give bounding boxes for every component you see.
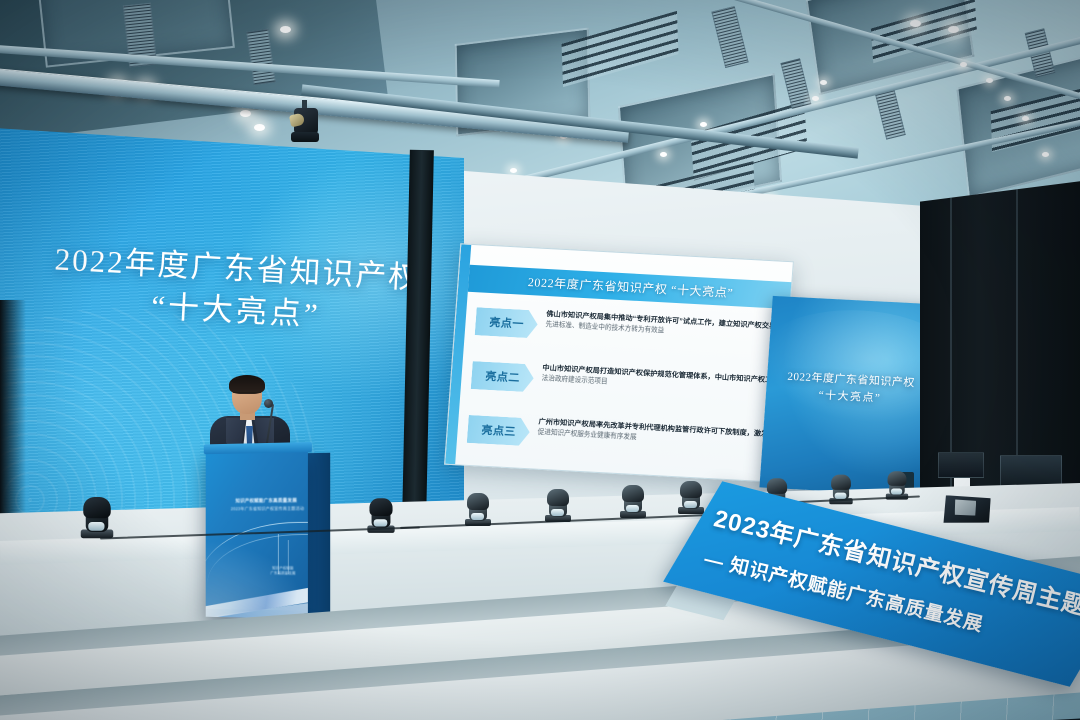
light-lens: [684, 501, 697, 508]
moving-head-light: [545, 488, 571, 522]
light-lens: [88, 522, 104, 531]
ceiling-slat-group: [562, 11, 679, 87]
ceiling-downlight: [1042, 152, 1049, 157]
list-item: 亮点二 中山市知识产权局打造知识产权保护规范化管理体系，中山市知识产权工作站点 …: [464, 357, 779, 422]
ceiling-downlight: [986, 78, 993, 83]
light-head: [467, 493, 489, 510]
light-head: [767, 478, 787, 494]
podium-sign-line1: 知识产权赋能广东高质量发展: [231, 498, 302, 505]
moving-head-light: [620, 484, 646, 518]
light-head: [831, 475, 851, 490]
light-lens: [374, 519, 388, 526]
equipment-flight-case: [938, 452, 984, 478]
conference-stage-photo: 2022年度广东省知识产权 “十大亮点” 2022年度广东省知识产权 “十大亮点…: [0, 0, 1080, 720]
list-item: 亮点三 广州市知识产权局率先改革并专利代理机构监管行政许可下放制度，激发、实施 …: [460, 411, 775, 476]
light-lens: [626, 505, 639, 512]
light-head: [622, 485, 644, 502]
ceiling-downlight: [812, 96, 819, 101]
highlight-tag: 亮点二: [471, 361, 535, 392]
slide-header-bar: 2022年度广东省知识产权 “十大亮点”: [468, 265, 794, 309]
ceiling-downlight: [700, 122, 707, 127]
highlight-text: 广州市知识产权局率先改革并专利代理机构监管行政许可下放制度，激发、实施 促进知识…: [537, 417, 770, 450]
glasses-icon: [233, 392, 261, 398]
ceiling-air-vent: [711, 6, 748, 68]
broadcast-camera: [288, 100, 324, 146]
ceiling-downlight: [820, 80, 827, 85]
ceiling-downlight: [280, 26, 291, 33]
podium-secondary-line2: 广东高质量发展: [268, 571, 298, 577]
secondary-led-screen: 2022年度广东省知识产权 “十大亮点”: [759, 296, 940, 496]
slide-header-title: 2022年度广东省知识产权 “十大亮点”: [527, 273, 734, 301]
microphone-icon: [264, 399, 273, 408]
ceiling-downlight: [948, 26, 959, 33]
highlight-text: 中山市知识产权局打造知识产权保护规范化管理体系，中山市知识产权工作站点 法治政府…: [541, 363, 774, 396]
ceiling-downlight: [660, 152, 667, 157]
slide-highlight-list: 亮点一 佛山市知识产权局集中推动“专利开放许可”试点工作，建立知识产权交易新模式…: [459, 303, 782, 481]
podium-sign: 知识产权赋能广东高质量发展 2023年广东省知识产权宣传周主题活动: [231, 498, 302, 513]
highlight-tag-label: 亮点三: [481, 422, 517, 440]
ceiling-downlight: [960, 62, 967, 67]
ceiling-downlight: [240, 110, 251, 117]
ceiling-downlight: [1004, 96, 1011, 101]
ceiling-downlight: [254, 124, 265, 131]
ceiling-downlight: [910, 20, 921, 27]
presentation-slide: 2022年度广东省知识产权 “十大亮点” 亮点一 佛山市知识产权局集中推动“专利…: [444, 243, 794, 482]
highlight-tag-label: 亮点一: [489, 314, 525, 332]
light-head: [888, 471, 907, 486]
highlight-tag-label: 亮点二: [485, 368, 521, 386]
ceiling-downlight: [510, 168, 517, 173]
ceiling-air-vent: [780, 58, 811, 109]
highlight-text: 佛山市知识产权局集中推动“专利开放许可”试点工作，建立知识产权交易新模式， 先进…: [545, 309, 778, 342]
light-lens: [891, 488, 902, 494]
light-lens: [471, 513, 484, 520]
light-head: [369, 498, 392, 516]
moving-head-light: [81, 496, 114, 539]
moving-head-light: [678, 480, 704, 514]
light-head: [547, 489, 569, 506]
light-lens: [551, 509, 564, 516]
list-item: 亮点一 佛山市知识产权局集中推动“专利开放许可”试点工作，建立知识产权交易新模式…: [467, 303, 782, 368]
highlight-tag: 亮点一: [475, 307, 539, 338]
podium-sign-line2: 2023年广东省知识产权宣传周主题活动: [231, 506, 302, 512]
highlight-tag: 亮点三: [467, 415, 531, 446]
ceiling-downlight: [1022, 116, 1029, 121]
podium-secondary-text: 知识产权赋能 广东高质量发展: [268, 566, 298, 577]
podium-top-surface: [204, 442, 312, 454]
light-head: [83, 497, 111, 518]
stage-monitor-speaker: [942, 493, 992, 525]
camera-base: [291, 132, 319, 142]
light-head: [680, 481, 702, 498]
monitor-grill: [954, 498, 977, 516]
podium-side-panel: [308, 453, 330, 616]
moving-head-light: [465, 492, 491, 526]
